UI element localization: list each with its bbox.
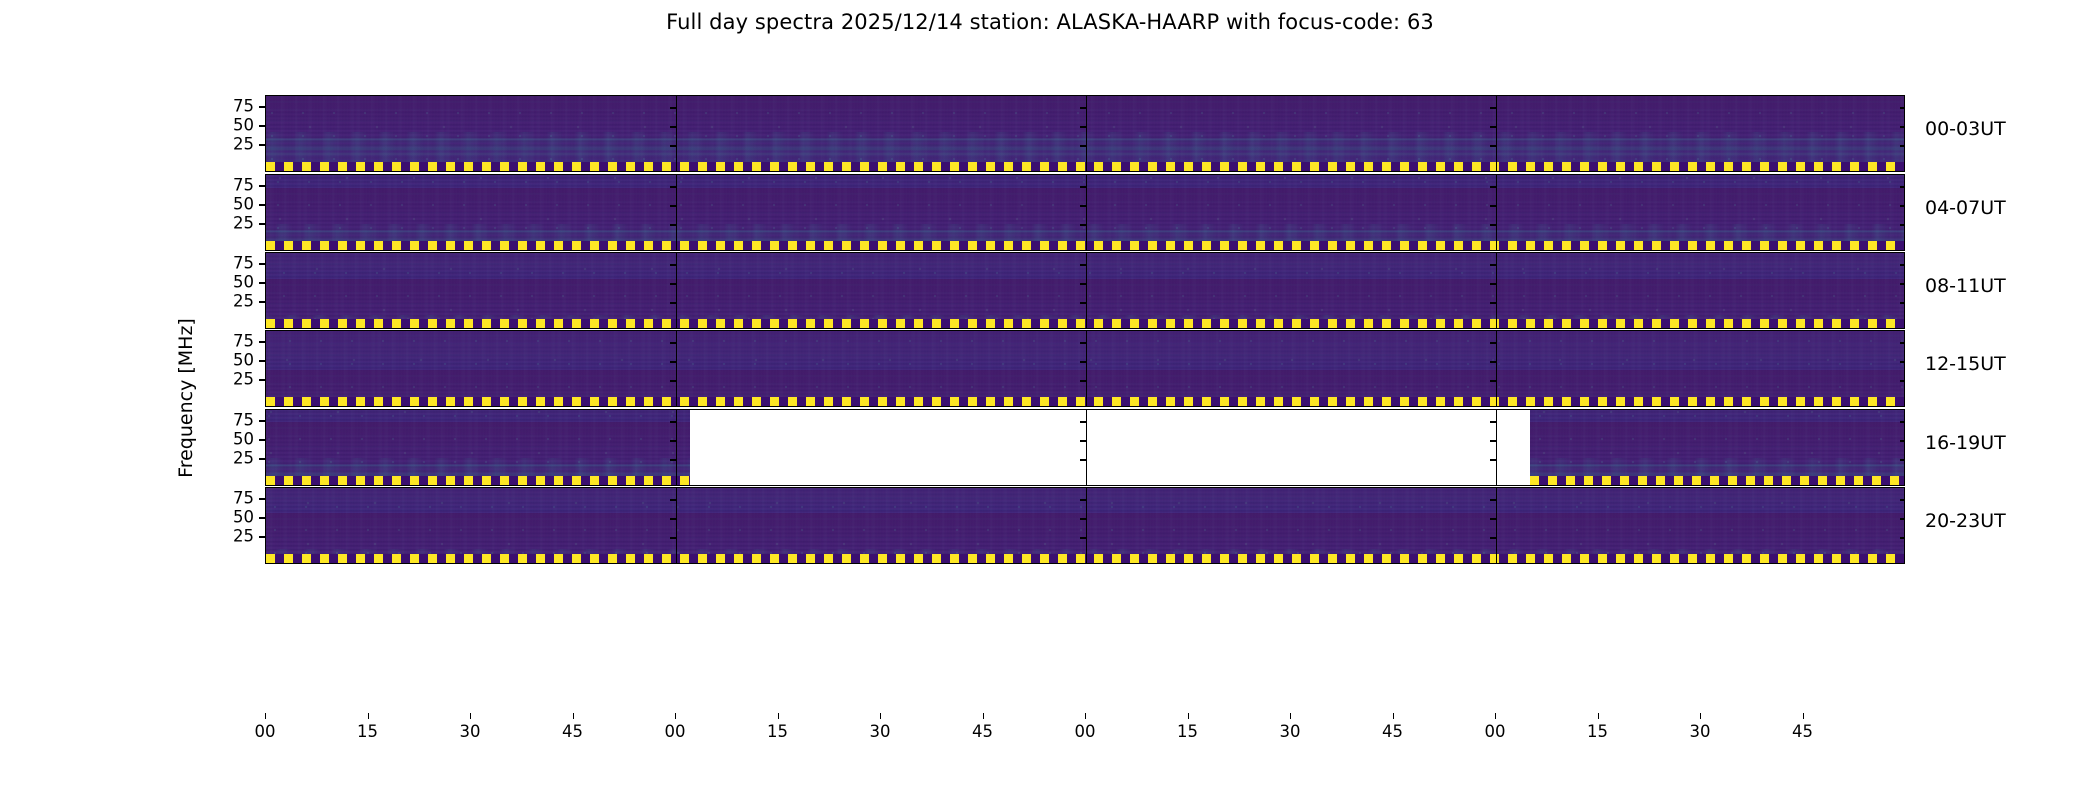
interior-tick <box>1080 302 1086 303</box>
row-caption-16-19ut: 16-19UT <box>1925 432 2006 454</box>
spectrogram-row[interactable]: 755025 <box>265 174 1905 251</box>
interior-tick <box>1900 145 1905 146</box>
row-caption-20-23ut: 20-23UT <box>1925 510 2006 532</box>
x-axis-tick <box>1803 713 1804 719</box>
time-coverage-strip <box>1530 476 1905 485</box>
interior-tick <box>670 283 676 284</box>
x-axis-tick-label: 45 <box>1382 722 1403 741</box>
y-axis-tick-label: 50 <box>233 508 254 527</box>
x-axis-tick-label: 45 <box>972 722 993 741</box>
y-axis-tick-label: 50 <box>233 195 254 214</box>
interior-tick <box>670 499 676 500</box>
interior-tick <box>1490 440 1496 441</box>
no-data-region <box>690 410 1531 485</box>
interior-tick <box>1900 283 1905 284</box>
x-axis: 00153045001530450015304500153045 <box>265 713 1905 753</box>
spectrogram-panel[interactable] <box>265 487 1905 564</box>
hour-divider <box>1496 488 1497 563</box>
spectrogram-row[interactable]: 755025 <box>265 487 1905 564</box>
y-axis-tick-label: 75 <box>233 254 254 273</box>
interior-tick <box>1080 224 1086 225</box>
y-axis-tick-label: 25 <box>233 292 254 311</box>
hour-divider <box>1496 331 1497 406</box>
interior-tick <box>1900 361 1905 362</box>
x-axis-tick <box>1085 713 1086 719</box>
x-axis-tick-label: 15 <box>1177 722 1198 741</box>
y-axis-tick-label: 25 <box>233 135 254 154</box>
interior-tick <box>1490 283 1496 284</box>
interior-tick <box>1080 499 1086 500</box>
interior-tick <box>1490 537 1496 538</box>
y-axis-tick-label: 75 <box>233 332 254 351</box>
interior-tick <box>670 342 676 343</box>
x-axis-tick <box>368 713 369 719</box>
spectrogram-panel[interactable] <box>265 252 1905 329</box>
hour-divider <box>676 253 677 328</box>
x-axis-tick-label: 45 <box>562 722 583 741</box>
spectrogram-row[interactable]: 755025 <box>265 95 1905 172</box>
hour-divider <box>676 488 677 563</box>
y-axis-tick-label: 50 <box>233 430 254 449</box>
hour-divider <box>1086 488 1087 563</box>
interior-tick <box>670 537 676 538</box>
interior-tick <box>670 421 676 422</box>
hour-divider <box>1496 96 1497 171</box>
time-coverage-strip <box>266 476 690 485</box>
y-axis-tick <box>259 282 265 283</box>
interior-tick <box>670 302 676 303</box>
interior-tick <box>670 205 676 206</box>
interior-tick <box>1900 205 1905 206</box>
spectrogram-figure: Full day spectra 2025/12/14 station: ALA… <box>0 0 2100 800</box>
spectrogram-row[interactable]: 755025 <box>265 409 1905 486</box>
spectrogram-panel[interactable] <box>265 95 1905 172</box>
interior-tick <box>1900 421 1905 422</box>
y-axis-tick <box>259 106 265 107</box>
interior-tick <box>1490 302 1496 303</box>
y-axis-tick <box>259 125 265 126</box>
interior-tick <box>670 224 676 225</box>
x-axis-tick-label: 00 <box>255 722 276 741</box>
x-axis-tick <box>470 713 471 719</box>
interior-tick <box>1490 342 1496 343</box>
interior-tick <box>1900 264 1905 265</box>
interior-tick <box>1490 361 1496 362</box>
interior-tick <box>670 264 676 265</box>
interior-tick <box>1490 145 1496 146</box>
interior-tick <box>1490 264 1496 265</box>
interior-tick <box>1900 380 1905 381</box>
x-axis-tick-label: 30 <box>870 722 891 741</box>
y-axis-tick-label: 75 <box>233 176 254 195</box>
row-caption-08-11ut: 08-11UT <box>1925 275 2006 297</box>
hour-divider <box>1086 96 1087 171</box>
interior-tick <box>670 186 676 187</box>
interior-tick <box>1900 518 1905 519</box>
x-axis-tick-label: 00 <box>1485 722 1506 741</box>
interior-tick <box>1080 440 1086 441</box>
y-axis-tick-label: 50 <box>233 116 254 135</box>
x-axis-tick-label: 30 <box>1690 722 1711 741</box>
y-axis-tick <box>259 341 265 342</box>
interior-tick <box>670 361 676 362</box>
hour-divider <box>1086 410 1087 485</box>
y-axis-tick-label: 75 <box>233 489 254 508</box>
x-axis-tick-label: 15 <box>1587 722 1608 741</box>
interior-tick <box>1080 361 1086 362</box>
x-axis-tick-label: 15 <box>767 722 788 741</box>
hour-divider <box>1086 331 1087 406</box>
spectrogram-panel[interactable] <box>265 330 1905 407</box>
interior-tick <box>1490 224 1496 225</box>
interior-tick <box>670 380 676 381</box>
x-axis-tick <box>1393 713 1394 719</box>
interior-tick <box>1900 440 1905 441</box>
y-axis-tick <box>259 360 265 361</box>
interior-tick <box>1080 186 1086 187</box>
x-axis-tick <box>1495 713 1496 719</box>
interior-tick <box>1900 186 1905 187</box>
interior-tick <box>1900 499 1905 500</box>
x-axis-tick-label: 45 <box>1792 722 1813 741</box>
y-axis-label: Frequency [MHz] <box>175 318 197 478</box>
interior-tick <box>670 107 676 108</box>
x-axis-tick <box>983 713 984 719</box>
x-axis-tick <box>573 713 574 719</box>
hour-divider <box>1496 253 1497 328</box>
y-axis-tick <box>259 204 265 205</box>
interior-tick <box>1080 342 1086 343</box>
y-axis-tick <box>259 185 265 186</box>
x-axis-tick <box>778 713 779 719</box>
interior-tick <box>1080 518 1086 519</box>
interior-tick <box>1080 264 1086 265</box>
y-axis-tick <box>259 379 265 380</box>
y-axis-tick <box>259 536 265 537</box>
interior-tick <box>670 126 676 127</box>
hour-divider <box>676 96 677 171</box>
interior-tick <box>1490 459 1496 460</box>
x-axis-tick-label: 00 <box>665 722 686 741</box>
row-caption-04-07ut: 04-07UT <box>1925 197 2006 219</box>
x-axis-tick-label: 00 <box>1075 722 1096 741</box>
hour-divider <box>1086 175 1087 250</box>
interior-tick <box>1900 302 1905 303</box>
interior-tick <box>1490 421 1496 422</box>
interior-tick <box>670 145 676 146</box>
x-axis-tick-label: 30 <box>1280 722 1301 741</box>
hour-divider <box>1496 410 1497 485</box>
x-axis-tick <box>675 713 676 719</box>
y-axis-tick <box>259 498 265 499</box>
interior-tick <box>1080 126 1086 127</box>
interior-tick <box>1900 107 1905 108</box>
y-axis-tick-label: 25 <box>233 527 254 546</box>
interior-tick <box>1080 283 1086 284</box>
x-axis-tick <box>1188 713 1189 719</box>
interior-tick <box>1490 107 1496 108</box>
y-axis-tick-label: 75 <box>233 97 254 116</box>
interior-tick <box>1490 126 1496 127</box>
x-axis-tick <box>265 713 266 719</box>
y-axis-tick <box>259 420 265 421</box>
y-axis-tick <box>259 439 265 440</box>
y-axis-tick-label: 75 <box>233 411 254 430</box>
y-axis-tick-label: 50 <box>233 273 254 292</box>
hour-divider <box>676 410 677 485</box>
interior-tick <box>1900 224 1905 225</box>
y-axis-tick-label: 25 <box>233 214 254 233</box>
y-axis-tick <box>259 301 265 302</box>
y-axis-tick-label: 25 <box>233 449 254 468</box>
y-axis-tick <box>259 458 265 459</box>
interior-tick <box>670 440 676 441</box>
interior-tick <box>1490 205 1496 206</box>
interior-tick <box>1900 342 1905 343</box>
row-caption-00-03ut: 00-03UT <box>1925 118 2006 140</box>
interior-tick <box>1080 459 1086 460</box>
hour-divider <box>1496 175 1497 250</box>
interior-tick <box>1490 518 1496 519</box>
interior-tick <box>1080 107 1086 108</box>
interior-tick <box>1900 537 1905 538</box>
y-axis-tick-label: 50 <box>233 351 254 370</box>
spectrogram-panel[interactable] <box>265 174 1905 251</box>
interior-tick <box>1080 380 1086 381</box>
interior-tick <box>1080 205 1086 206</box>
interior-tick <box>670 518 676 519</box>
interior-tick <box>1080 537 1086 538</box>
spectrogram-row[interactable]: 755025 <box>265 252 1905 329</box>
y-axis-tick <box>259 263 265 264</box>
x-axis-tick <box>1598 713 1599 719</box>
interior-tick <box>1080 421 1086 422</box>
interior-tick <box>1490 499 1496 500</box>
spectrogram-panel[interactable] <box>265 409 1905 486</box>
row-caption-12-15ut: 12-15UT <box>1925 353 2006 375</box>
hour-divider <box>676 175 677 250</box>
interior-tick <box>670 459 676 460</box>
x-axis-tick-label: 30 <box>460 722 481 741</box>
interior-tick <box>1900 126 1905 127</box>
hour-divider <box>1086 253 1087 328</box>
interior-tick <box>1490 380 1496 381</box>
y-axis-tick <box>259 223 265 224</box>
hour-divider <box>676 331 677 406</box>
y-axis-tick <box>259 517 265 518</box>
interior-tick <box>1900 459 1905 460</box>
x-axis-tick-label: 15 <box>357 722 378 741</box>
page-title: Full day spectra 2025/12/14 station: ALA… <box>0 10 2100 34</box>
y-axis-tick-label: 25 <box>233 370 254 389</box>
interior-tick <box>1490 186 1496 187</box>
x-axis-tick <box>1290 713 1291 719</box>
x-axis-tick <box>880 713 881 719</box>
x-axis-tick <box>1700 713 1701 719</box>
spectrogram-row[interactable]: 755025 <box>265 330 1905 407</box>
y-axis-tick <box>259 144 265 145</box>
interior-tick <box>1080 145 1086 146</box>
